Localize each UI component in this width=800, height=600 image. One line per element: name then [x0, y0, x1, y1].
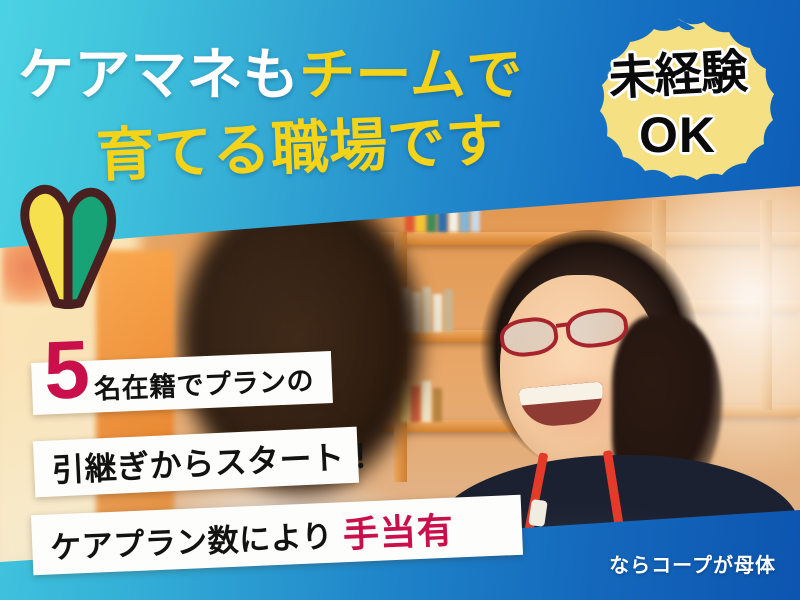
staff-count-number: 5 — [42, 329, 91, 413]
info-strip-2-text: 引継ぎからスタート！ — [51, 431, 378, 492]
wakaba-beginner-mark-icon — [14, 183, 122, 309]
footer-parent-company-text: ならコープが母体 — [609, 549, 776, 578]
info-strip-3-text: ケアプラン数により — [49, 510, 334, 567]
headline-line-1-white: ケアマネも — [18, 43, 299, 106]
info-strip-1-text: 名在籍でプランの — [93, 358, 314, 406]
allowance-accent-text: 手当有 — [342, 502, 455, 559]
badge-top-text: 未経験 — [573, 31, 781, 111]
headline-line-2: 育てる職場です — [95, 93, 506, 193]
unexperienced-ok-badge: 未経験 OK — [575, 14, 780, 189]
recruitment-banner: ケアマネもチームで 育てる職場です 未経験 OK 名在籍でプランの 5 引継ぎか… — [0, 0, 800, 600]
badge-bottom-text: OK — [575, 106, 780, 164]
